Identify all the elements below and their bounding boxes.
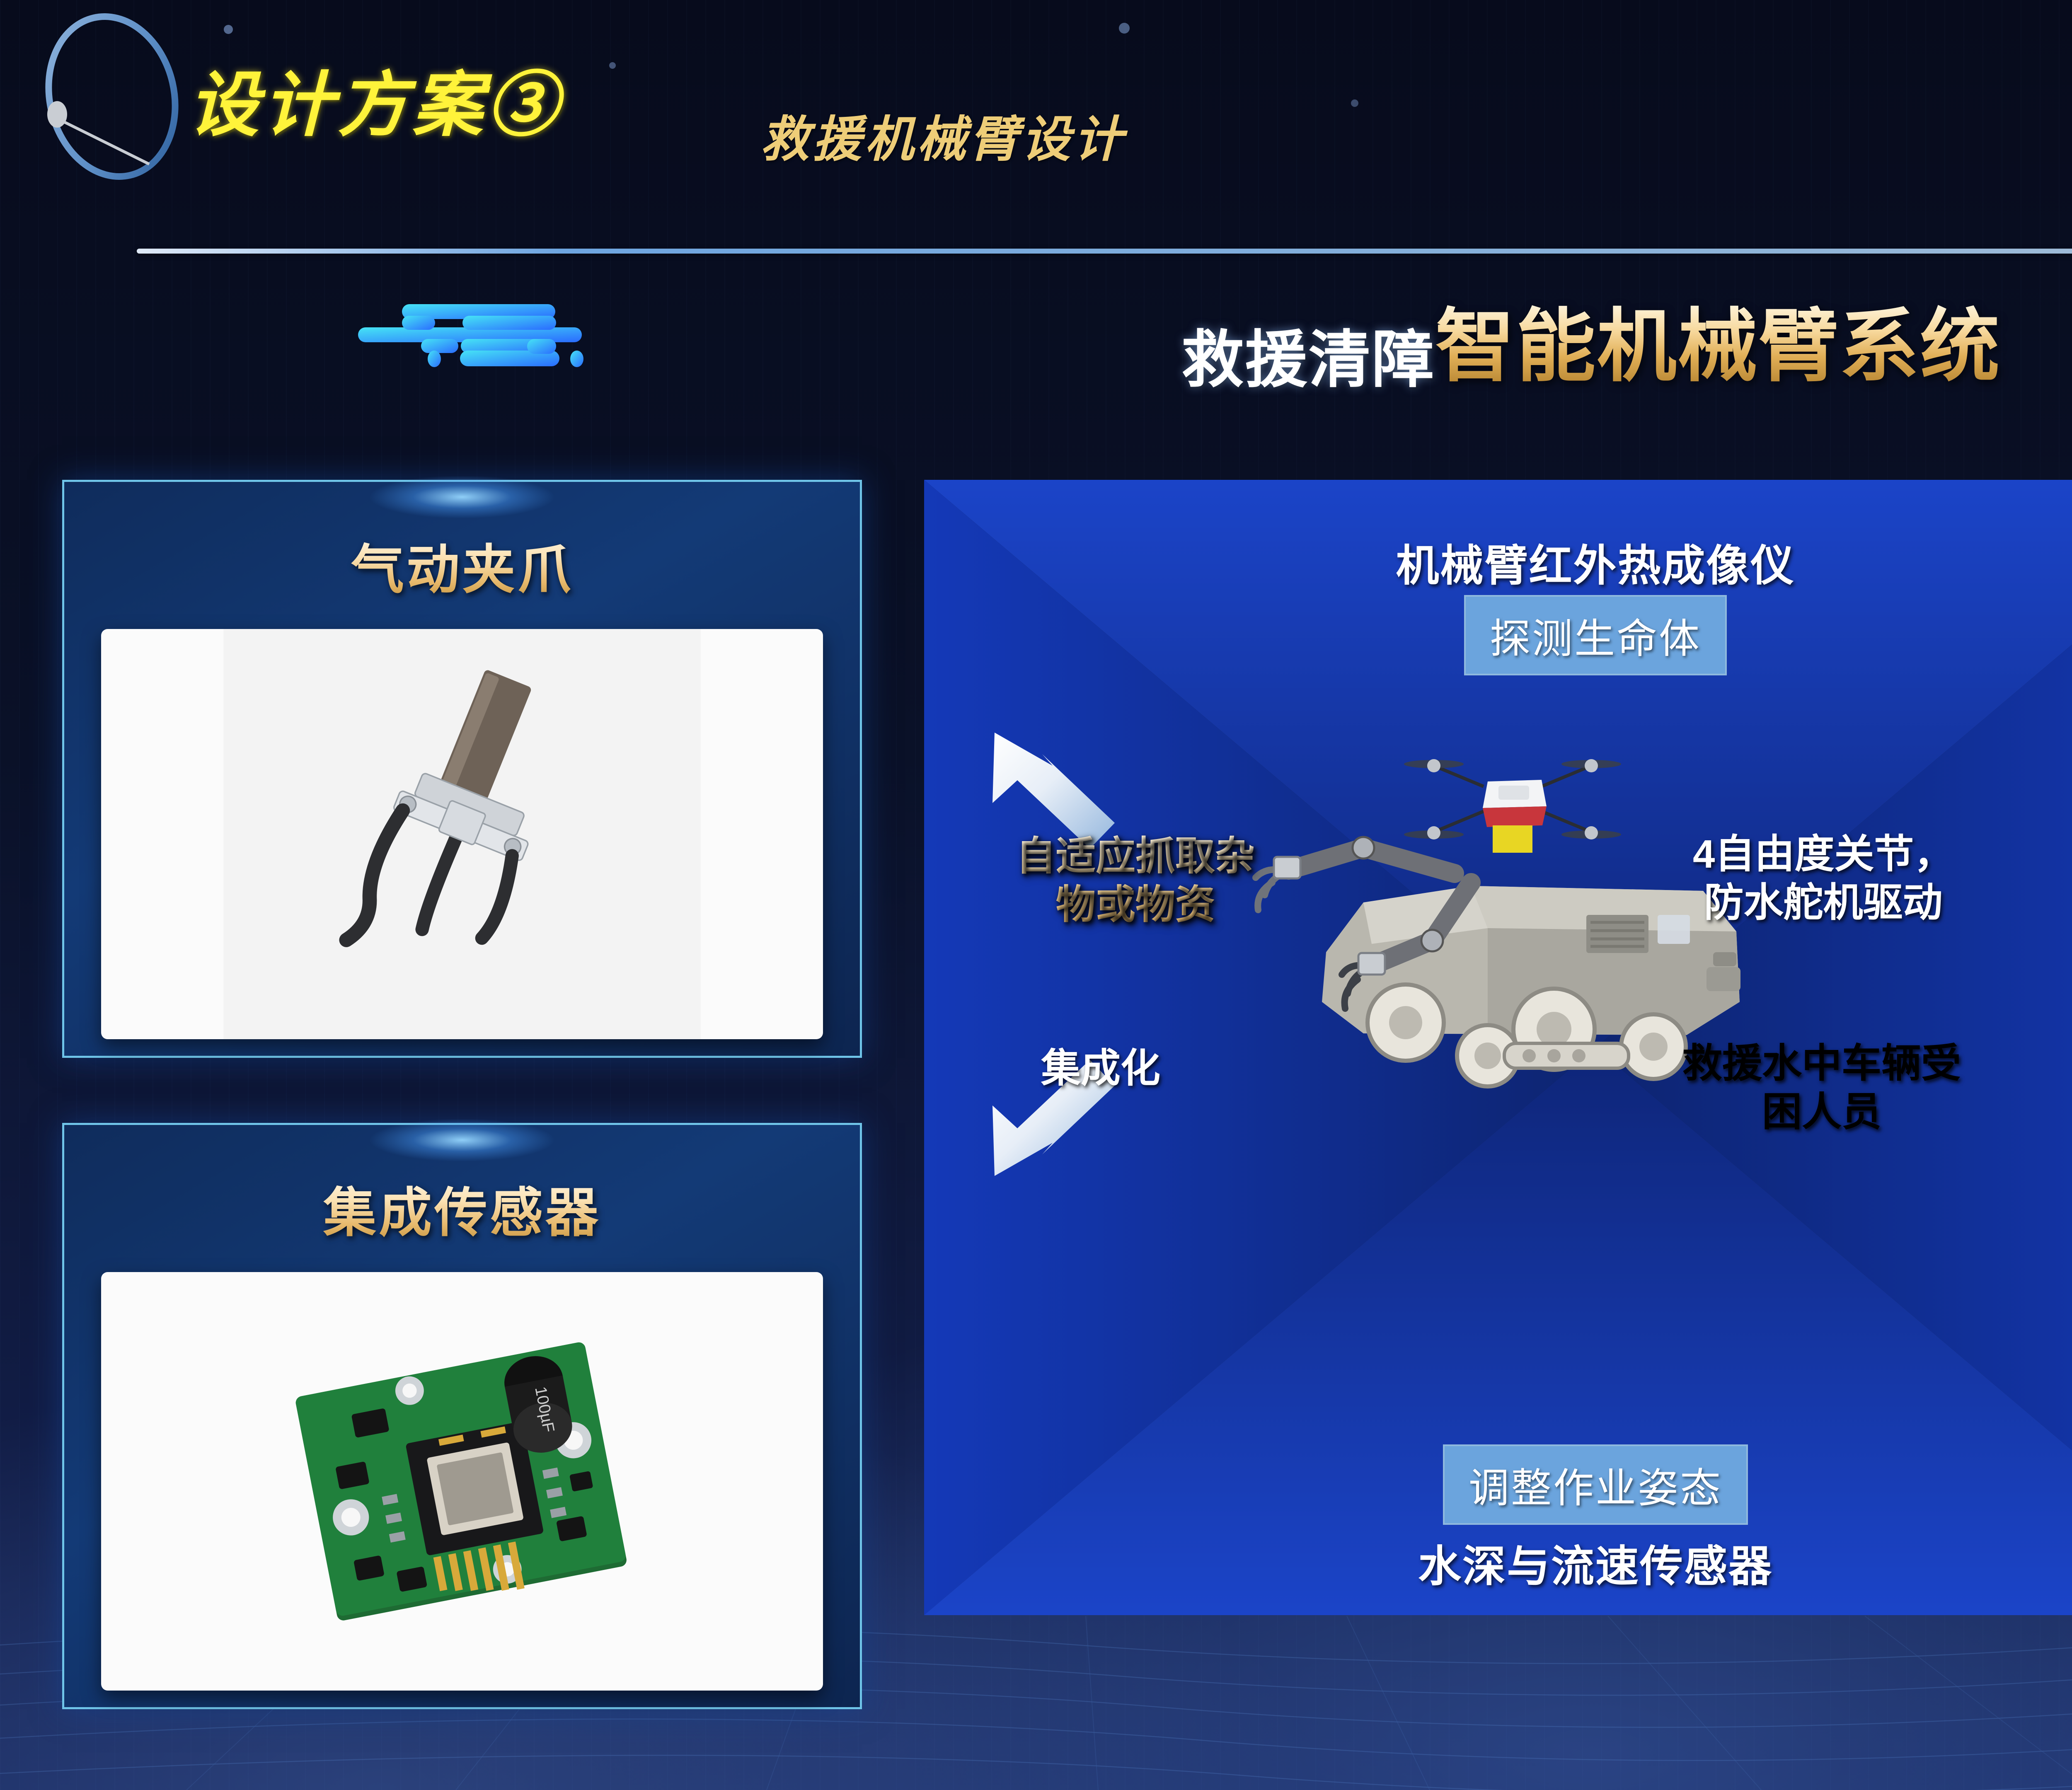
annotation-bottom-right: 救援水中车辆受 困人员 <box>1682 1039 1961 1136</box>
card-glow <box>334 1119 591 1169</box>
sensor-board-photo: 100µF <box>101 1272 823 1691</box>
page-title: 设计方案③ <box>189 48 562 150</box>
card-title: 气动夹爪 <box>351 527 573 603</box>
particle <box>609 62 616 69</box>
annotation-line: 自适应抓取杂 <box>1016 832 1255 880</box>
annotation-line: 救援水中车辆受 <box>1682 1039 1961 1088</box>
badge-detect-life[interactable]: 探测生命体 <box>1464 595 1727 675</box>
header-ring-decoration <box>25 7 199 206</box>
annotation-line1: 水中车辆受 <box>1762 1041 1961 1086</box>
center-label-top: 机械臂红外热成像仪 <box>924 530 2072 593</box>
annotation-line2: 困人员 <box>1682 1088 1961 1136</box>
heading-highlight: 智能机械臂系统 <box>1435 302 2001 391</box>
annotation-line: 防水舵机驱动 <box>1693 878 1953 927</box>
particle <box>1351 99 1358 107</box>
center-diagram: 机械臂红外热成像仪 探测生命体 自适应抓取杂 物或物资 集成化 4自由度关节， … <box>924 480 2072 1615</box>
badge-adjust-posture[interactable]: 调整作业姿态 <box>1443 1444 1748 1525</box>
annotation-line: 物或物资 <box>1016 880 1255 929</box>
card-pneumatic-gripper[interactable]: 气动夹爪 <box>62 480 862 1058</box>
card-integrated-sensor[interactable]: 集成传感器 <box>62 1123 862 1709</box>
heading-prefix: 救援清障 <box>1181 325 1435 394</box>
particle <box>1119 23 1130 34</box>
header-divider <box>137 249 2072 254</box>
card-title: 集成传感器 <box>323 1170 601 1246</box>
card-glow <box>334 476 591 526</box>
annotation-prefix: 救援 <box>1682 1041 1762 1086</box>
annotation-top-left: 自适应抓取杂 物或物资 <box>1016 832 1255 929</box>
page-subtitle: 救援机械臂设计 <box>760 99 1126 170</box>
annotation-bottom-left: 集成化 <box>1041 1044 1160 1093</box>
annotation-top-right: 4自由度关节， 防水舵机驱动 <box>1693 830 1953 927</box>
slide-root: 设计方案③ 救援机械臂设计 <box>0 0 2072 1790</box>
annotation-line: 4自由度关节， <box>1693 830 1953 878</box>
pneumatic-gripper-photo <box>101 629 823 1039</box>
main-heading: 救援清障智能机械臂系统 <box>0 282 2072 399</box>
annotation-line: 集成化 <box>1041 1044 1160 1093</box>
center-label-bottom: 水深与流速传感器 <box>924 1531 2072 1594</box>
particle <box>224 25 233 34</box>
